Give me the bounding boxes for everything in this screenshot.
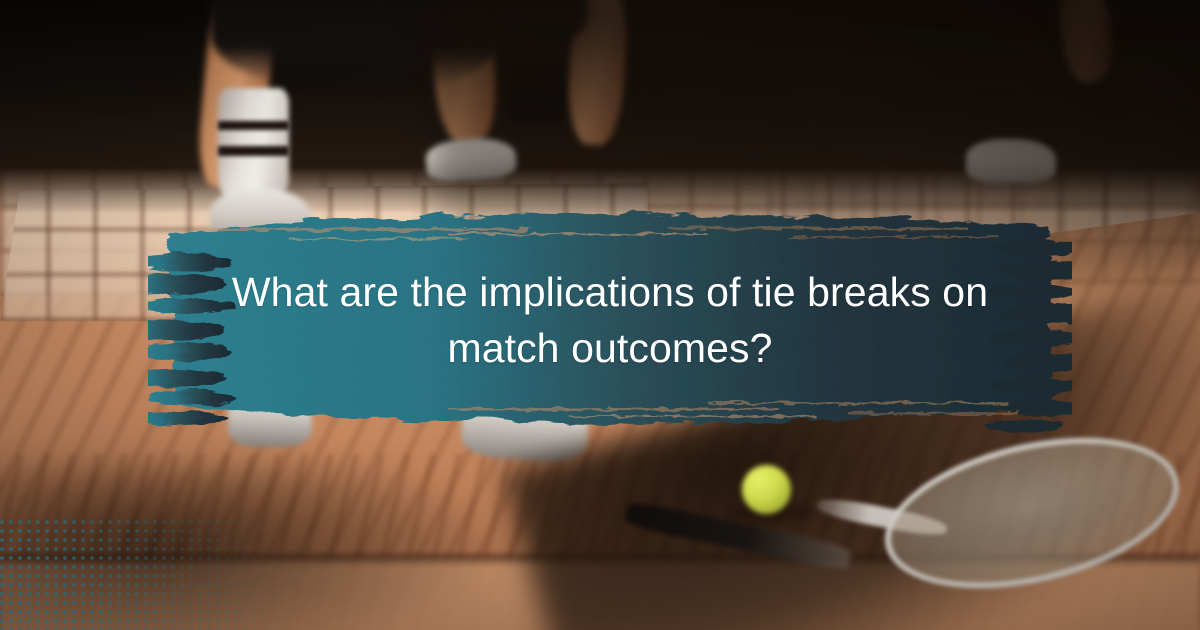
brush-stroke-banner: What are the implications of tie breaks … (148, 192, 1072, 444)
tennis-ball (742, 465, 791, 514)
court-shadow-left (0, 466, 504, 630)
sock-stripe-upper (218, 121, 289, 130)
white-sock (218, 88, 289, 201)
share-card: What are the implications of tie breaks … (0, 0, 1200, 630)
banner-text-block: What are the implications of tie breaks … (148, 192, 1072, 444)
sock-stripe-lower (218, 146, 289, 155)
page-title: What are the implications of tie breaks … (230, 264, 990, 376)
